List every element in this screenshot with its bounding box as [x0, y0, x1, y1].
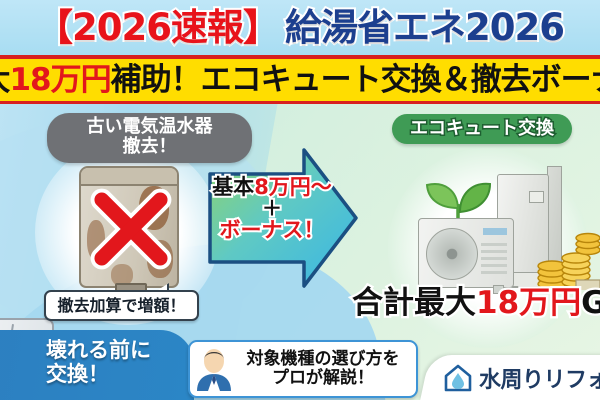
- right-arrow-icon: 基本8万円～ ＋ ボーナス！: [208, 148, 358, 288]
- house-waterdrop-logo-icon: [443, 363, 473, 393]
- headline-breaking-tag: 【2026速報】: [36, 9, 279, 46]
- removal-bonus-bubble: 撤去加算で増額！: [44, 290, 199, 321]
- total-amount: 18万円: [476, 285, 581, 321]
- ecocute-replacement-label: エコキュート交換: [410, 120, 554, 138]
- headline-bar-primary: 【2026速報】 給湯省エネ2026: [0, 0, 600, 55]
- headline-bar-subsidy: 大 18万円 補助！エコキュート交換＆撤去ボーナ: [0, 59, 600, 101]
- heat-pump-outdoor-unit-icon: [418, 218, 514, 288]
- total-prefix: 合計最大: [352, 285, 476, 321]
- total-amount-line: 合計最大18万円GE: [352, 288, 600, 319]
- removal-bonus-label: 撤去加算で増額！: [57, 298, 185, 314]
- brand-logo[interactable]: 水周りリフォー: [443, 362, 600, 394]
- thumbnail-canvas: 【2026速報】 給湯省エネ2026 大 18万円 補助！エコキュート交換＆撤去…: [0, 0, 600, 400]
- arrow-bonus-label: ボーナス！: [208, 219, 336, 241]
- total-suffix: GE: [581, 285, 600, 321]
- subsidy-prefix: 大: [0, 65, 9, 96]
- gold-coins-stack-icon: [536, 228, 600, 290]
- subsidy-amount: 18万円: [9, 65, 110, 96]
- pro-explains-box[interactable]: 対象機種の選び方を プロが解説！: [188, 340, 418, 398]
- arrow-plus-sign: ＋: [208, 198, 336, 219]
- businessman-avatar-icon: [193, 347, 235, 391]
- replace-line1: 壊れる前に: [46, 338, 196, 362]
- pro-line1: 対象機種の選び方を: [235, 350, 411, 369]
- replace-before-break-text: 壊れる前に 交換！: [46, 338, 196, 387]
- old-heater-label-line1: 古い電気温水器: [57, 117, 242, 137]
- divider-red-bottom: [0, 101, 600, 104]
- arrow-base-label: 基本: [212, 175, 254, 199]
- subsidy-suffix: 補助！エコキュート交換＆撤去ボーナ: [111, 65, 600, 96]
- ecocute-replacement-badge: エコキュート交換: [392, 114, 572, 144]
- red-x-mark-icon: [88, 186, 174, 272]
- headline-program-name: 給湯省エネ2026: [285, 9, 564, 46]
- replace-line2: 交換！: [46, 362, 196, 386]
- brand-name: 水周りリフォー: [479, 362, 600, 394]
- pro-line2: プロが解説！: [235, 369, 411, 388]
